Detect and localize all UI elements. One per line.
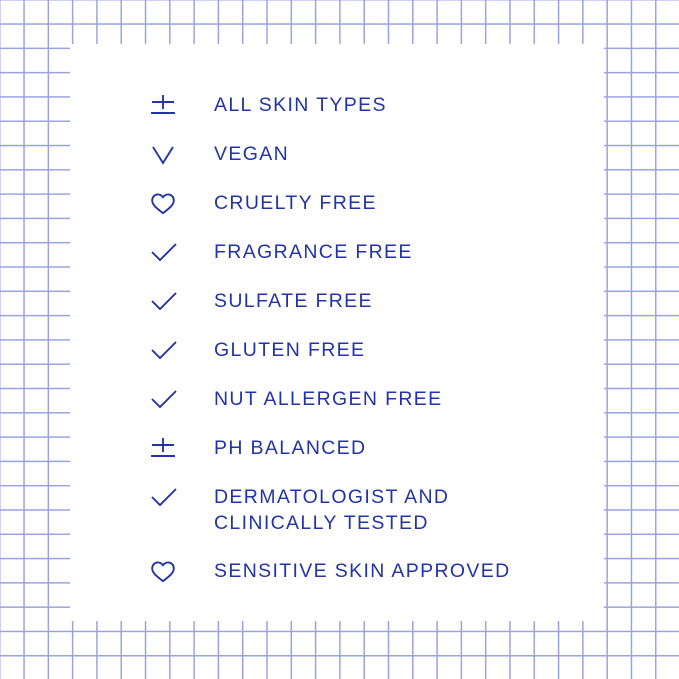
feature-row: NUT ALLERGEN FREE	[70, 387, 604, 413]
check-icon	[149, 485, 195, 511]
plus-minus-icon	[149, 93, 195, 119]
feature-label: ALL SKIN TYPES	[214, 93, 387, 119]
plus-minus-icon	[149, 436, 195, 462]
feature-row: SULFATE FREE	[70, 289, 604, 315]
feature-row: ALL SKIN TYPES	[70, 93, 604, 119]
feature-label: FRAGRANCE FREE	[214, 240, 413, 266]
heart-icon	[149, 191, 195, 217]
feature-label: PH BALANCED	[214, 436, 366, 462]
feature-label: SULFATE FREE	[214, 289, 373, 315]
check-icon	[149, 240, 195, 266]
check-icon	[149, 338, 195, 364]
feature-row: GLUTEN FREE	[70, 338, 604, 364]
heart-icon	[149, 559, 195, 585]
feature-row: FRAGRANCE FREE	[70, 240, 604, 266]
feature-label: NUT ALLERGEN FREE	[214, 387, 442, 413]
feature-row: DERMATOLOGIST AND CLINICALLY TESTED	[70, 485, 604, 536]
feature-row: VEGAN	[70, 142, 604, 168]
feature-label: CRUELTY FREE	[214, 191, 377, 217]
feature-row: SENSITIVE SKIN APPROVED	[70, 559, 604, 585]
feature-label: GLUTEN FREE	[214, 338, 365, 364]
v-letter-icon	[149, 142, 195, 168]
feature-card: ALL SKIN TYPESVEGANCRUELTY FREEFRAGRANCE…	[70, 44, 604, 621]
check-icon	[149, 289, 195, 315]
feature-list: ALL SKIN TYPESVEGANCRUELTY FREEFRAGRANCE…	[70, 44, 604, 621]
feature-label: SENSITIVE SKIN APPROVED	[214, 559, 511, 585]
feature-row: CRUELTY FREE	[70, 191, 604, 217]
product-claims-graphic: ALL SKIN TYPESVEGANCRUELTY FREEFRAGRANCE…	[0, 0, 679, 679]
feature-label: VEGAN	[214, 142, 289, 168]
check-icon	[149, 387, 195, 413]
feature-label: DERMATOLOGIST AND CLINICALLY TESTED	[214, 485, 449, 536]
feature-row: PH BALANCED	[70, 436, 604, 462]
